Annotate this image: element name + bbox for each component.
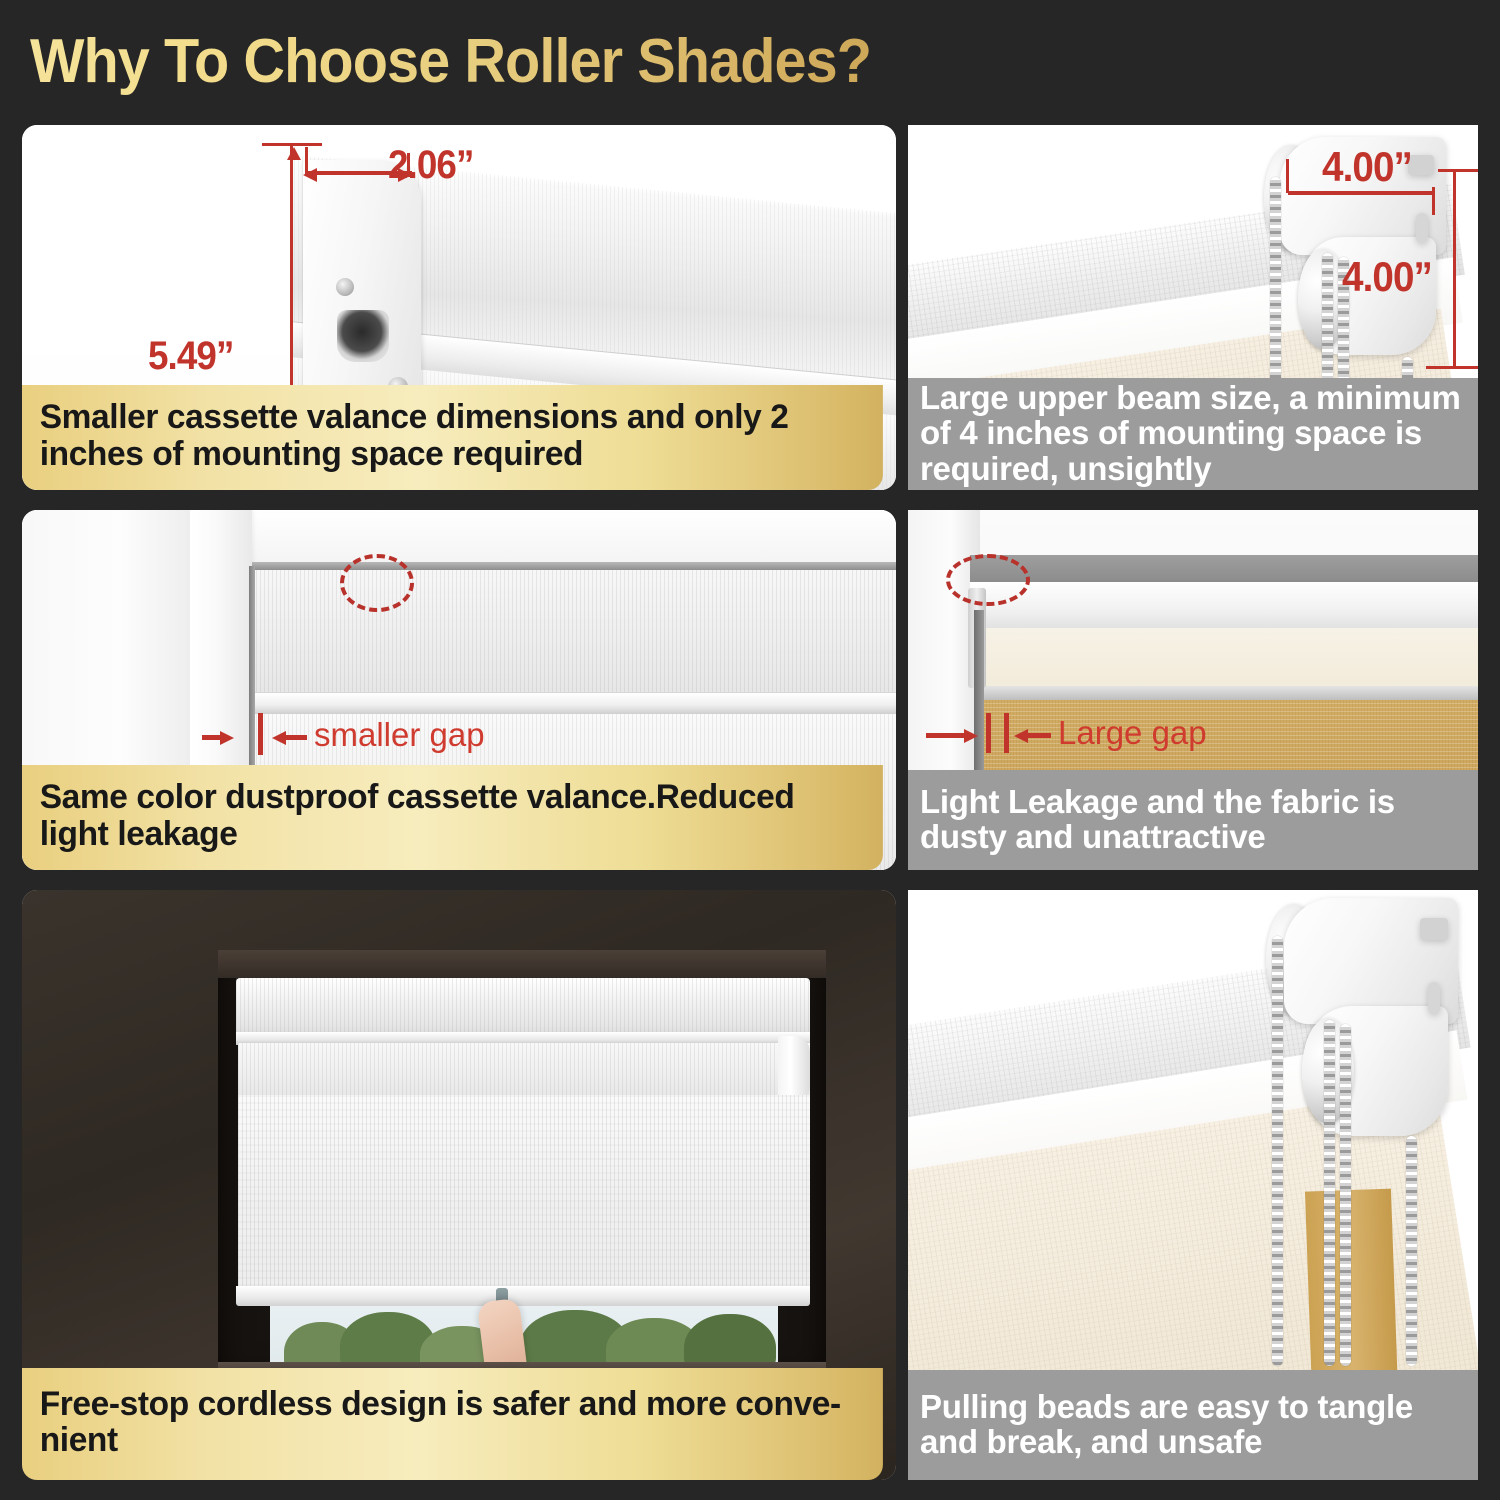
endcap-slot [337,310,389,362]
highlight-circle [340,554,414,612]
arrow-shaft [1027,733,1051,738]
panel-caption: Light Leakage and the fabric is dusty an… [908,770,1478,870]
dim-tick [1426,366,1478,369]
panel-caption: Free-stop cordless design is safer and m… [22,1368,883,1480]
roller-end-cap [778,1036,810,1102]
bracket-slot [1416,213,1428,243]
bracket-slot [1428,982,1440,1014]
bottom-rail [236,1286,810,1306]
dim-tick [262,143,322,146]
arrow-right-icon [220,731,234,745]
gap-tick [1004,713,1009,753]
dim-line-vertical [1453,169,1456,369]
highlight-circle [946,554,1030,606]
bead-chain [1340,1024,1351,1366]
bead-chain [1406,1136,1417,1366]
dim-label-height: 5.49” [148,334,233,379]
shade-fabric [238,1095,810,1293]
panel-caption: Same color dustproof cassette valance.Re… [22,765,883,870]
screw-icon [336,278,354,296]
page-title: Why To Choose Roller Shades? [30,22,1053,102]
fabric-upper [238,1043,810,1095]
gap-tick [258,713,263,755]
mid-rail [250,692,896,714]
arrow-up-icon [287,147,301,160]
panel-caption: Smaller cassette valance dimensions and … [22,385,883,490]
panel-smaller-cassette: 2.06” 5.49” Smaller cassette valance dim… [22,125,896,490]
dim-tick [1432,187,1435,215]
arrow-left-icon [272,731,286,745]
bead-chain [1272,936,1283,1366]
head-rail [236,978,810,1036]
gap-label: smaller gap [314,716,485,754]
arrow-right-icon [964,729,978,743]
dim-label-height: 4.00” [1342,253,1432,301]
cream-band [978,628,1478,690]
dim-label-width: 4.00” [1322,143,1412,191]
gap-label: Large gap [1058,714,1207,752]
panel-large-upper-beam: 4.00” 4.00” Large upper beam size, a min… [908,125,1478,490]
bracket-slot [1420,918,1448,940]
panel-light-leakage: Large gap Light Leakage and the fabric i… [908,510,1478,870]
panel-caption: Pulling beads are easy to tangle and bre… [908,1370,1478,1480]
dim-tick [1438,169,1478,172]
dim-label-width: 2.06” [388,143,473,188]
beam-white [970,582,1478,632]
panel-pulling-beads: Pulling beads are easy to tangle and bre… [908,890,1478,1480]
beam-top-dark [970,555,1478,585]
bead-chain [1324,1020,1335,1366]
window-frame-top [190,510,896,568]
dim-line-horizontal [1288,191,1434,195]
dim-tick [1286,159,1289,193]
panel-caption: Large upper beam size, a minimum of 4 in… [908,378,1478,490]
window-reveal [218,950,826,978]
panel-dustproof-valance: smaller gap Same color dustproof cassett… [22,510,896,870]
arrow-shaft [285,735,307,740]
arrow-shaft [202,735,222,740]
arrow-shaft [926,733,966,738]
panel-cordless-design: Free-stop cordless design is safer and m… [22,890,896,1480]
gap-tick [986,713,991,753]
arrow-left-icon [1014,729,1028,743]
dim-tick [305,147,308,175]
